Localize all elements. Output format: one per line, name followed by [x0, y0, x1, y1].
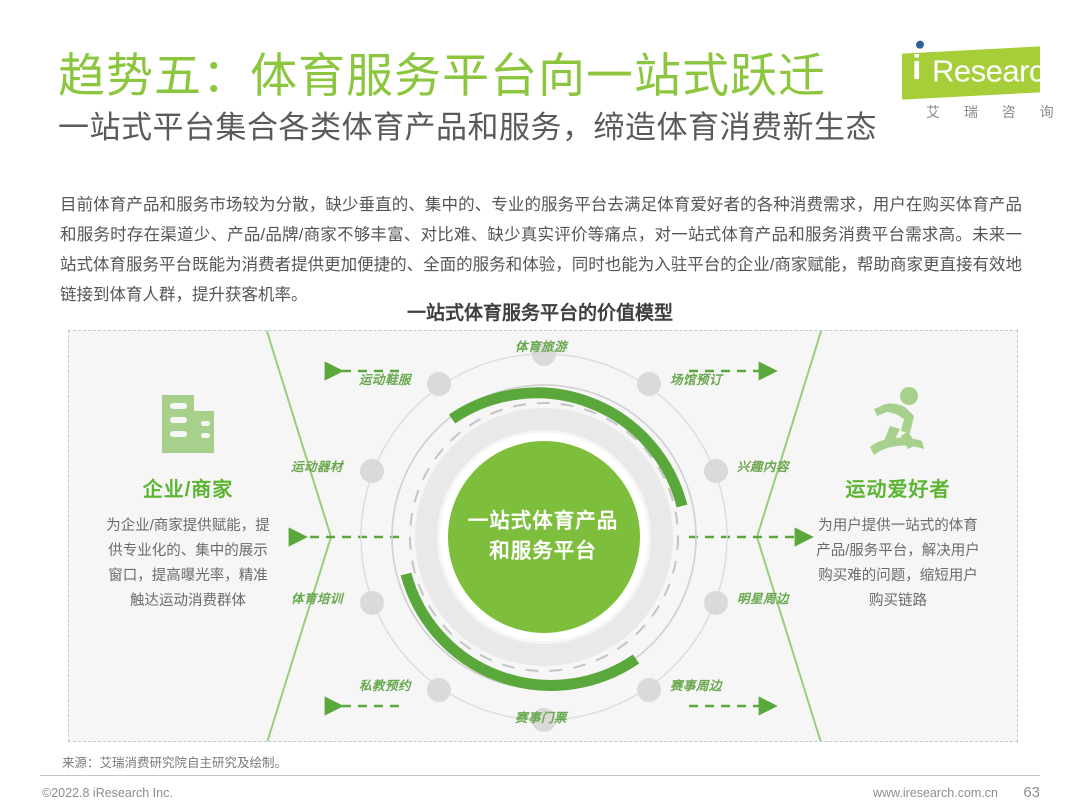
node-label-sportswear: 运动鞋服: [359, 369, 411, 388]
page-number: 63: [1023, 784, 1040, 801]
page-subtitle: 一站式平台集合各类体育产品和服务，缔造体育消费新生态: [58, 110, 1023, 146]
center-label-line1: 一站式体育产品: [438, 506, 648, 536]
node-label-coach-booking: 私教预约: [359, 675, 411, 694]
center-label-line2: 和服务平台: [438, 536, 648, 566]
node-label-event-merch: 赛事周边: [670, 675, 722, 694]
actor-fan-desc: 为用户提供一站式的体育产品/服务平台，解决用户购买难的问题，缩短用户购买链路: [812, 514, 984, 614]
copyright-text: ©2022.8 iResearch Inc.: [42, 786, 173, 800]
center-label: 一站式体育产品 和服务平台: [438, 506, 648, 565]
actor-enterprise-desc: 为企业/商家提供赋能，提供专业化的、集中的展示窗口，提高曝光率，精准触达运动消费…: [102, 514, 274, 614]
node-label-event-tickets: 赛事门票: [515, 707, 567, 726]
logo-dot-icon: [916, 40, 924, 48]
slide-header: 趋势五：体育服务平台向一站式跃迁 一站式平台集合各类体育产品和服务，缔造体育消费…: [58, 52, 1023, 146]
iresearch-logo: i Research 艾 瑞 咨 询: [902, 50, 1042, 128]
node-label-sports-training: 体育培训: [291, 588, 343, 607]
diagram-title: 一站式体育服务平台的价值模型: [0, 298, 1080, 325]
source-note: 来源：艾瑞消费研究院自主研究及绘制。: [62, 752, 287, 771]
value-model-diagram: 一站式体育产品 和服务平台 体育旅游 运动鞋服 场馆预订 运动器材 兴趣内容 体…: [68, 330, 1018, 742]
node-label-star-merch: 明星周边: [737, 588, 789, 607]
footer-divider: [40, 775, 1040, 776]
actor-enterprise: 企业/商家 为企业/商家提供赋能，提供专业化的、集中的展示窗口，提高曝光率，精准…: [83, 331, 293, 741]
actor-fan-name: 运动爱好者: [846, 473, 951, 502]
snowboarder-icon: [856, 379, 940, 463]
logo-chinese-name: 艾 瑞 咨 询: [926, 102, 1064, 122]
node-label-venue-booking: 场馆预订: [670, 369, 722, 388]
actor-sports-fan: 运动爱好者 为用户提供一站式的体育产品/服务平台，解决用户购买难的问题，缩短用户…: [793, 331, 1003, 741]
flow-arrows-left: [291, 371, 399, 706]
website-link[interactable]: www.iresearch.com.cn: [873, 786, 998, 800]
page-title: 趋势五：体育服务平台向一站式跃迁: [58, 52, 1023, 99]
logo-badge: i Research: [902, 46, 1040, 99]
actor-enterprise-name: 企业/商家: [143, 473, 234, 502]
body-paragraph: 目前体育产品和服务市场较为分散，缺少垂直的、集中的、专业的服务平台去满足体育爱好…: [60, 190, 1022, 310]
node-label-interest-content: 兴趣内容: [737, 456, 789, 475]
logo-initial: i: [912, 47, 921, 89]
slide-root: 趋势五：体育服务平台向一站式跃迁 一站式平台集合各类体育产品和服务，缔造体育消费…: [0, 0, 1080, 810]
logo-wordmark: Research: [932, 52, 1061, 92]
node-label-sports-travel: 体育旅游: [515, 336, 567, 355]
flow-arrows-right: [689, 371, 797, 706]
node-label-sports-equipment: 运动器材: [291, 456, 343, 475]
building-icon: [146, 379, 230, 463]
